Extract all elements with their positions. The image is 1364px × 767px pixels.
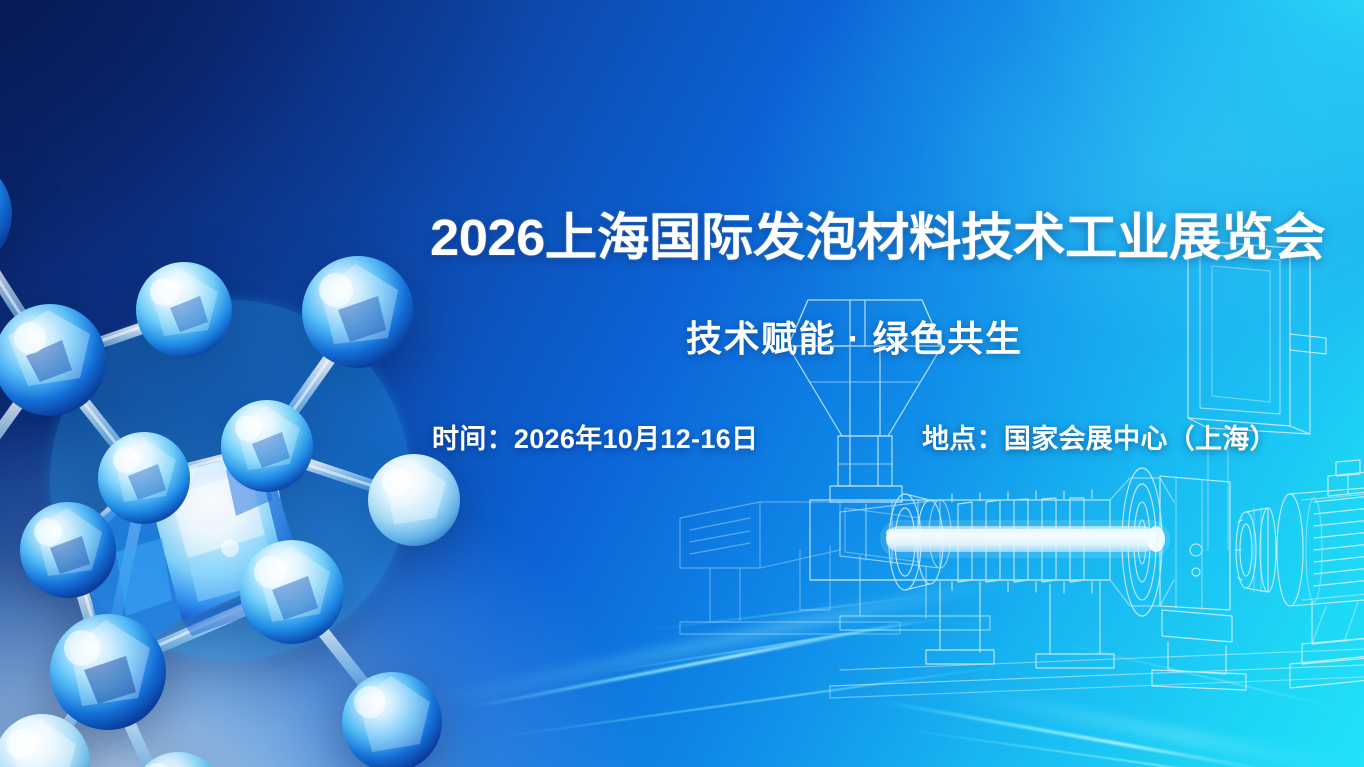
event-venue: 地点：国家会展中心（上海） (922, 417, 1277, 456)
banner-canvas: 2026上海国际发泡材料技术工业展览会 技术赋能 · 绿色共生 时间：2026年… (0, 0, 1364, 767)
event-date: 时间：2026年10月12-16日 (432, 417, 758, 456)
banner-subtitle: 技术赋能 · 绿色共生 (686, 310, 1023, 362)
page-title: 2026上海国际发泡材料技术工业展览会 (430, 196, 1325, 270)
